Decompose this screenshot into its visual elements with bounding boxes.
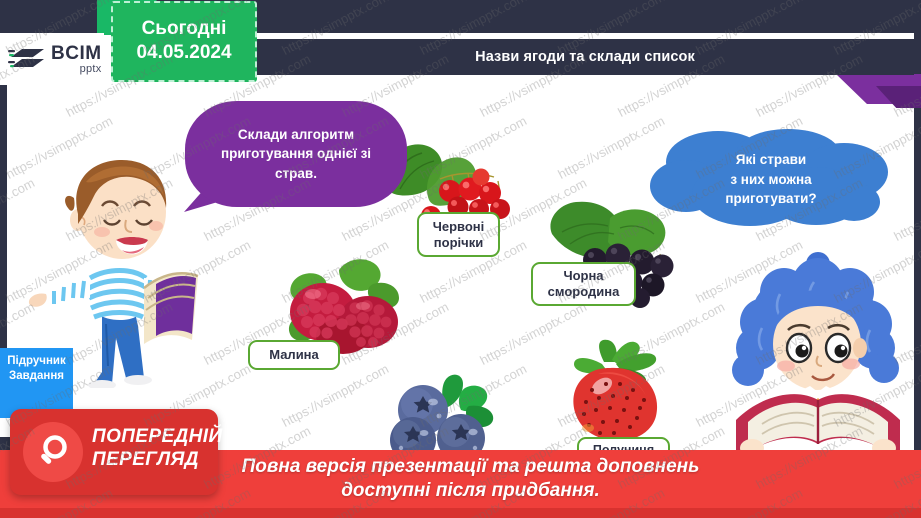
berry-label-text: Чорна смородина	[548, 268, 620, 300]
raspberry-icon	[281, 254, 411, 354]
brand-logo[interactable]: BCIM pptx	[8, 38, 103, 80]
header-left-dark-block	[0, 0, 100, 33]
berry-label-text: Малина	[269, 347, 319, 363]
strawberry-icon	[558, 336, 678, 448]
bottom-red-strip	[0, 508, 921, 518]
preview-line2: ПЕРЕГЛЯД	[92, 449, 199, 470]
blue-cloud-text: Які страви з них можна приготувати?	[648, 150, 894, 209]
girl-reading-book-illustration	[718, 252, 918, 477]
preview-watermark-badge: ПОПЕРЕДНІЙПЕРЕГЛЯД	[10, 409, 218, 495]
today-date: 04.05.2024	[136, 41, 231, 65]
sidebar-item-textbook-task[interactable]: Підручник Завдання	[0, 348, 73, 418]
magnifier-icon	[23, 422, 83, 482]
preview-badge-text: ПОПЕРЕДНІЙПЕРЕГЛЯД	[92, 426, 223, 472]
sidebar-tab-line2: Завдання	[0, 369, 73, 384]
page-title: Назви ягоди та склади список	[475, 49, 695, 65]
logo-brand-text: BCIM	[51, 44, 102, 63]
slide-title-bar: Назви ягоди та склади список	[256, 39, 914, 75]
presentation-slide: BCIM pptx Сьогодні 04.05.2024 Назви ягод…	[0, 0, 921, 518]
berry-label-black-currant: Чорна смородина	[531, 262, 636, 306]
logo-sub-text: pptx	[51, 64, 102, 75]
berry-label-red-currant: Червоні порічки	[417, 212, 500, 257]
today-date-badge: Сьогодні 04.05.2024	[111, 1, 257, 82]
purple-bubble-text: Склади алгоритм приготування однієї зі с…	[198, 125, 394, 182]
berry-label-text: Червоні порічки	[433, 219, 485, 251]
berry-label-raspberry: Малина	[248, 340, 340, 370]
preview-line1: ПОПЕРЕДНІЙ	[92, 426, 223, 447]
purple-speech-bubble: Склади алгоритм приготування однієї зі с…	[185, 101, 407, 207]
today-label: Сьогодні	[142, 18, 227, 41]
purchase-notice-text: Повна версія презентації та решта доповн…	[242, 455, 700, 503]
graduation-cap-icon	[8, 43, 48, 75]
blue-cloud-bubble: Які страви з них можна приготувати?	[648, 128, 894, 232]
sidebar-tab-line1: Підручник	[0, 354, 73, 369]
